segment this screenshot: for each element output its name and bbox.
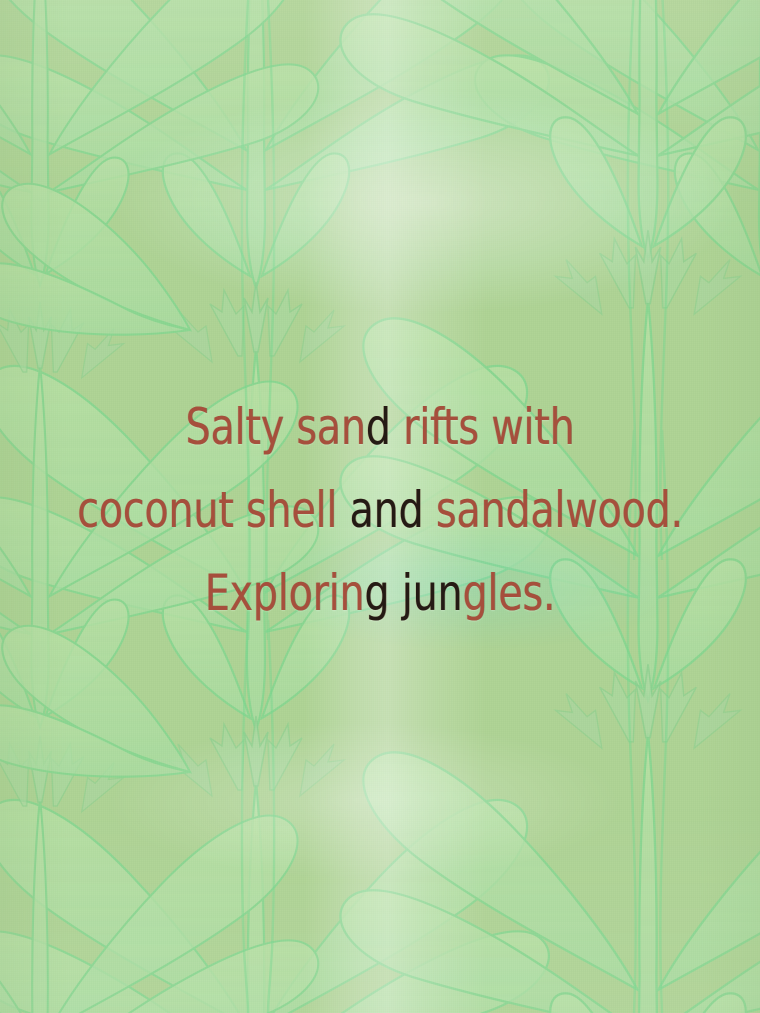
scent-description-line-3: Exploring jungles. [46, 552, 715, 635]
scent-description-line-1: Salty sand rifts with [46, 386, 715, 469]
scent-line3-segment-red: Explorin [205, 564, 365, 622]
scent-line3-segment-red-2: gles. [462, 564, 555, 622]
scent-line2-segment-red: coconut shell [77, 481, 349, 539]
scent-line2-segment-red-2: sandalwood. [424, 481, 683, 539]
scent-line1-segment-red-2: rifts with [403, 398, 574, 456]
scent-line1-segment-dark: d [366, 398, 403, 456]
product-label-panel: Salty sand rifts with coconut shell and … [0, 0, 760, 1013]
scent-description-block: Salty sand rifts with coconut shell and … [0, 386, 760, 635]
scent-line2-segment-dark: and [350, 481, 424, 539]
scent-line1-segment-red: Salty san [185, 398, 365, 456]
scent-description-line-2: coconut shell and sandalwood. [46, 469, 715, 552]
scent-line3-segment-dark: g jun [364, 564, 462, 622]
